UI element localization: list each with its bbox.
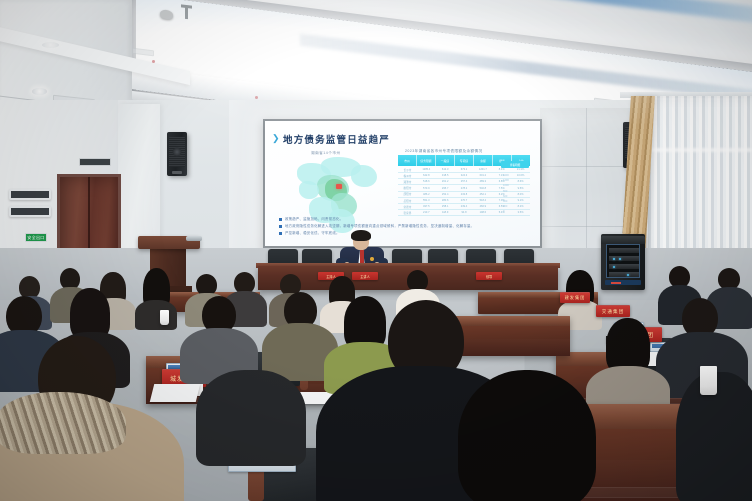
table-cell: 642.8 xyxy=(417,173,436,178)
desk-nameplate: 建发集团 xyxy=(560,292,590,303)
av-status-led xyxy=(619,258,621,260)
ceiling-downlight xyxy=(42,42,59,48)
table-cell: 497.5 xyxy=(417,204,436,209)
table-cell: 3.5% xyxy=(511,210,530,215)
speaker-badge xyxy=(172,171,182,174)
slide-map-caption: 湖南省14个市州 xyxy=(311,151,341,156)
slide-bullet-list: 政策趋严、监管加码、问责常态化。地方政府隐性债务化解进入攻坚期，新增专项债额度向… xyxy=(279,217,529,237)
bullet-marker-icon xyxy=(279,225,282,228)
table-cell: 489.3 xyxy=(473,179,492,184)
table-cell: 213.7 xyxy=(417,210,436,215)
audience-person-foreground xyxy=(446,370,616,501)
speaker-woofer-icon xyxy=(173,148,182,157)
table-row: 岳阳市551.3280.6270.7518.47.0%9.1% xyxy=(398,198,530,204)
table-row: 湘潭市518.6261.2257.4489.36.8%8.6% xyxy=(398,179,530,185)
table-cell: 261.2 xyxy=(436,179,455,184)
table-cell: 岳阳市 xyxy=(398,198,417,203)
wall-air-vent xyxy=(9,189,51,200)
av-status-led xyxy=(627,274,629,276)
table-cell: 518.4 xyxy=(473,198,492,203)
table-cell: 8.2% xyxy=(511,204,530,209)
presenter-tie xyxy=(360,250,364,264)
av-unit xyxy=(609,248,639,253)
table-cell: 252.4 xyxy=(436,192,455,197)
table-cell: 673.1 xyxy=(455,167,474,172)
table-cell: 551.3 xyxy=(417,198,436,203)
table-cell: 257.4 xyxy=(455,179,474,184)
table-cell: 280.6 xyxy=(436,198,455,203)
person-long-hair xyxy=(458,370,596,501)
desk-nameplate: 交通集团 xyxy=(596,305,630,317)
map-location-pin-icon xyxy=(336,184,342,189)
fur-collar xyxy=(0,392,126,454)
exit-sign: 安全出口 xyxy=(25,233,47,242)
table-cell: 94.8 xyxy=(455,210,474,215)
head-nameplate: 领导 xyxy=(476,272,502,280)
table-cell: 258.1 xyxy=(436,204,455,209)
slide-bullet-row: 严控新增、稳妥化债、守牢底线。 xyxy=(279,231,529,236)
table-cell: 466.9 xyxy=(473,204,492,209)
paper-cup xyxy=(700,366,717,395)
av-rack-front-panel xyxy=(605,280,641,285)
table-cell: 324.3 xyxy=(455,173,474,178)
table-cell: 601.2 xyxy=(473,173,492,178)
table-detail-button: 查看明细 xyxy=(501,161,529,168)
table-cell: 9.5% xyxy=(511,186,530,191)
axis-tick-label: 1000 xyxy=(503,183,509,188)
av-status-led xyxy=(613,266,615,268)
table-row: 张家界213.7118.994.8198.65.4%3.5% xyxy=(398,210,530,216)
wall-air-vent xyxy=(9,206,51,217)
table-cell: 1201.7 xyxy=(473,167,492,172)
sprinkler-icon xyxy=(255,96,258,99)
table-cell: 452.1 xyxy=(473,192,492,197)
table-cell: 540.8 xyxy=(473,186,492,191)
presenter-badge xyxy=(370,257,374,261)
table-cell: 8.0% xyxy=(511,192,530,197)
table-cell: 239.4 xyxy=(455,204,474,209)
table-cell: 318.5 xyxy=(436,173,455,178)
table-row: 株洲市642.8318.5324.3601.27.1%10.6% xyxy=(398,173,530,179)
conference-room-photo: 安全出口 ❯ 地方债务监管日益趋严 湖南省14个市州 2023年湖南省各市州专项… xyxy=(0,0,752,501)
ceiling-downlight xyxy=(32,88,47,95)
av-unit xyxy=(609,272,639,277)
table-cell: 邵阳市 xyxy=(398,192,417,197)
table-row: 衡阳市573.9295.7278.2540.87.5%9.5% xyxy=(398,186,530,192)
table-cell: 衡阳市 xyxy=(398,186,417,191)
bullet-text: 严控新增、稳妥化债、守牢底线。 xyxy=(285,231,340,236)
table-cell: 198.6 xyxy=(473,210,492,215)
bullet-text: 地方政府隐性债务化解进入攻坚期，新增专项债额度向重点领域倾斜，严禁新增隐性债务，… xyxy=(285,224,474,229)
presenter-hair xyxy=(351,230,371,241)
person-fur-collar xyxy=(0,392,126,501)
table-cell: 518.6 xyxy=(417,179,436,184)
audience-person xyxy=(136,268,176,322)
axis-tick-label: 0 xyxy=(503,209,509,214)
table-cell: 233.8 xyxy=(455,192,474,197)
table-cell: 612.3 xyxy=(436,167,455,172)
slide-title: 地方债务监管日益趋严 xyxy=(283,132,390,146)
table-row: 常德市497.5258.1239.4466.96.5%8.2% xyxy=(398,204,530,210)
table-header-cell: 余额 xyxy=(474,155,493,166)
wall-speaker-left xyxy=(167,132,187,176)
slide-table-caption: 2023年湖南省各市州专项债限额及余额情况 xyxy=(405,149,483,154)
table-cell: 湘潭市 xyxy=(398,179,417,184)
map-region xyxy=(299,181,319,199)
map-region xyxy=(351,165,377,187)
table-cell: 486.2 xyxy=(417,192,436,197)
table-cell: 278.2 xyxy=(455,186,474,191)
person-body xyxy=(196,370,306,466)
table-cell: 8.6% xyxy=(511,179,530,184)
audience-person xyxy=(196,340,306,460)
table-header-cell: 专项债 xyxy=(455,155,474,166)
av-equipment-rack xyxy=(601,234,645,290)
table-header-cell: 债务限额 xyxy=(417,155,436,166)
av-rack-top xyxy=(601,236,645,244)
table-cell: 295.7 xyxy=(436,186,455,191)
table-cell: 常德市 xyxy=(398,204,417,209)
slide-bullet-row: 政策趋严、监管加码、问责常态化。 xyxy=(279,217,529,222)
door-header-panel xyxy=(79,158,111,166)
av-status-led xyxy=(613,258,615,260)
projection-screen: ❯ 地方债务监管日益趋严 湖南省14个市州 2023年湖南省各市州专项债限额及余… xyxy=(265,121,540,246)
person-body xyxy=(135,300,177,330)
table-header-cell: 市州 xyxy=(398,155,417,166)
chart-axis-ticks: 1400120010008006004002000 xyxy=(503,173,509,215)
slide-bullet-row: 地方政府隐性债务化解进入攻坚期，新增专项债额度向重点领域倾斜，严禁新增隐性债务，… xyxy=(279,224,529,229)
table-cell: 10.6% xyxy=(511,173,530,178)
table-cell: 张家界 xyxy=(398,210,417,215)
slide-title-marker: ❯ xyxy=(272,134,279,142)
bullet-text: 政策趋严、监管加码、问责常态化。 xyxy=(285,217,343,222)
table-header-cell: 一般债 xyxy=(436,155,455,166)
bullet-marker-icon xyxy=(279,218,282,221)
table-cell: 9.1% xyxy=(511,198,530,203)
sprinkler-icon xyxy=(152,60,155,63)
table-cell: 118.9 xyxy=(436,210,455,215)
table-cell: 270.7 xyxy=(455,198,474,203)
ceiling-light-blue-tint xyxy=(430,0,752,23)
paper-cup xyxy=(160,310,169,325)
table-cell: 573.9 xyxy=(417,186,436,191)
av-rack-bay xyxy=(606,244,640,278)
lectern-microphone-icon xyxy=(186,236,202,241)
bullet-marker-icon xyxy=(279,232,282,235)
exit-sign-label: 安全出口 xyxy=(27,235,44,241)
table-row: 邵阳市486.2252.4233.8452.16.2%8.0% xyxy=(398,192,530,198)
table-cell: 1285.4 xyxy=(417,167,436,172)
projector-mount-icon xyxy=(185,7,188,19)
table-cell: 株洲市 xyxy=(398,173,417,178)
table-cell: 长沙市 xyxy=(398,167,417,172)
